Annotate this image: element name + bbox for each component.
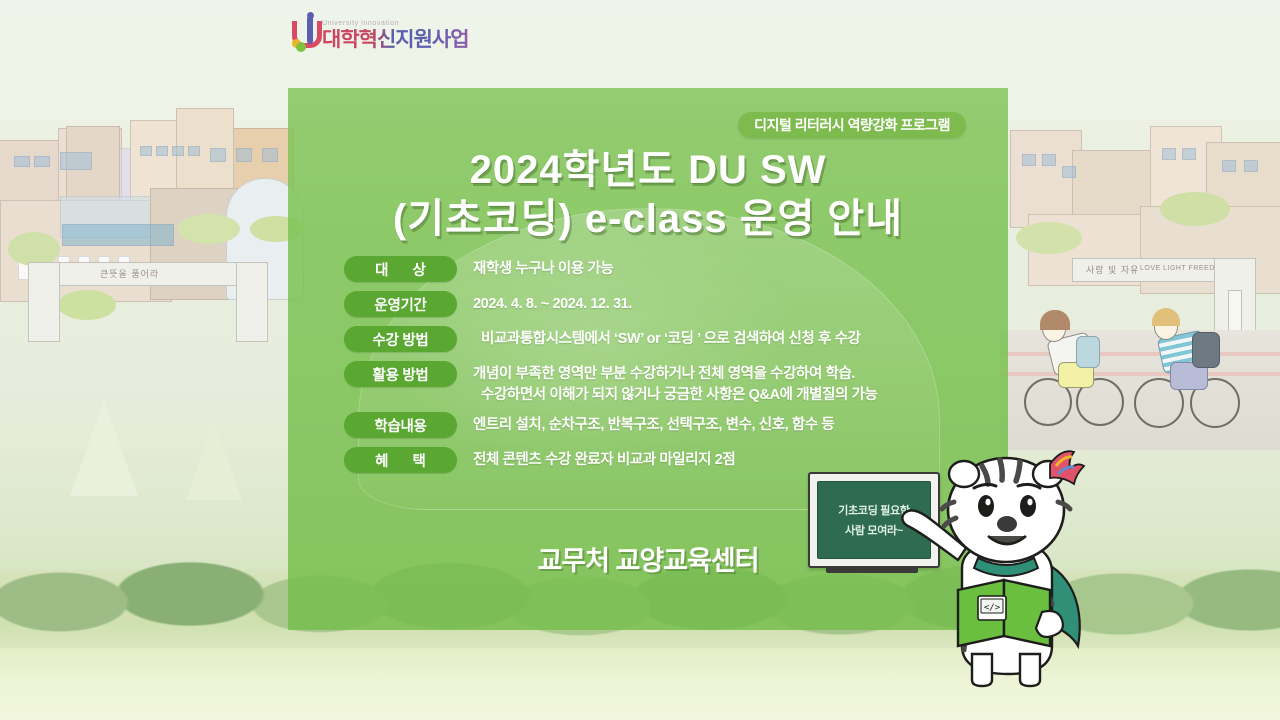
program-badge: 디지털 리터러시 역량강화 프로그램: [738, 112, 966, 138]
logo-green-dot: [296, 42, 306, 52]
cyclist-female: [1020, 300, 1130, 430]
svg-text:</>: </>: [984, 603, 1001, 613]
university-innovation-logo: University innovation 대학혁신지원사업: [292, 16, 469, 50]
row-value-contents: 엔트리 설치, 순차구조, 반복구조, 선택구조, 변수, 신호, 함수 등: [473, 412, 834, 436]
title-line-2: (기초코딩) e-class 운영 안내: [288, 195, 1008, 244]
window: [60, 152, 92, 170]
table-row: 학습내용 엔트리 설치, 순차구조, 반복구조, 선택구조, 변수, 신호, 함…: [344, 412, 978, 438]
logo-text: University innovation 대학혁신지원사업: [322, 20, 469, 50]
window: [1182, 148, 1196, 160]
info-table: 대 상 재학생 누구나 이용 가능 운영기간 2024. 4. 8. ~ 202…: [344, 256, 978, 482]
window: [1222, 160, 1236, 172]
row-label-target: 대 상: [344, 256, 457, 282]
tree: [1160, 192, 1230, 226]
tiger-mascot-illustration: </>: [900, 440, 1115, 690]
page-title: 2024학년도 DU SW (기초코딩) e-class 운영 안내: [288, 146, 1008, 244]
table-row: 운영기간 2024. 4. 8. ~ 2024. 12. 31.: [344, 291, 978, 317]
tree: [58, 290, 116, 320]
conifer-tree: [186, 420, 242, 500]
cyclist-hair: [1152, 308, 1180, 326]
gate-left-pillar: [28, 262, 60, 342]
logo-j-dot: [307, 12, 314, 19]
gate-left-pillar: [236, 262, 268, 342]
tiger-mascot: </>: [900, 440, 1115, 690]
cyclist-backpack: [1192, 332, 1220, 368]
poster-canvas: 큰뜻을 품어라 사랑 빛 자유 LOVE LIGHT FREEDOM: [0, 0, 1280, 720]
cyclist-male: [1130, 300, 1250, 430]
row-value-period: 2024. 4. 8. ~ 2024. 12. 31.: [473, 291, 632, 315]
window: [210, 148, 226, 162]
conifer-tree: [70, 400, 138, 496]
window: [236, 148, 252, 162]
row-value-how-to-use: 개념이 부족한 영역만 부분 수강하거나 전체 영역을 수강하여 학습. 수강하…: [473, 361, 878, 406]
window: [172, 146, 184, 156]
title-line-1: 2024학년도 DU SW: [288, 146, 1008, 195]
window: [1062, 166, 1076, 178]
table-row: 대 상 재학생 누구나 이용 가능: [344, 256, 978, 282]
window: [62, 224, 174, 246]
row-value-benefit: 전체 콘텐츠 수강 완료자 비교과 마일리지 2점: [473, 447, 735, 471]
row-value-how-to-use-line1: 개념이 부족한 영역만 부분 수강하거나 전체 영역을 수강하여 학습.: [473, 366, 855, 382]
window: [1244, 160, 1258, 172]
window: [1042, 154, 1056, 166]
row-value-how-to-use-line2: 수강하면서 이해가 되지 않거나 궁금한 사항은 Q&A에 개별질의 가능: [473, 385, 878, 406]
row-label-period: 운영기간: [344, 291, 457, 317]
table-row: 혜 택 전체 콘텐츠 수강 완료자 비교과 마일리지 2점: [344, 447, 978, 473]
window: [156, 146, 168, 156]
window: [1022, 154, 1036, 166]
cyclist-backpack: [1076, 336, 1100, 368]
tree: [178, 214, 240, 244]
tree: [1016, 222, 1082, 254]
window: [14, 156, 30, 167]
window: [140, 146, 152, 156]
logo-mark-icon: [292, 16, 318, 50]
table-row: 활용 방법 개념이 부족한 영역만 부분 수강하거나 전체 영역을 수강하여 학…: [344, 361, 978, 406]
row-label-contents: 학습내용: [344, 412, 457, 438]
window: [188, 146, 200, 156]
logo-text-english: University innovation: [322, 20, 469, 27]
window: [1162, 148, 1176, 160]
blackboard-line-2: 사람 모여라~: [845, 522, 903, 538]
logo-j-shape: [307, 16, 313, 44]
row-label-how-to-enroll: 수강 방법: [344, 326, 457, 352]
window: [262, 148, 278, 162]
window: [34, 156, 50, 167]
row-label-how-to-use: 활용 방법: [344, 361, 457, 387]
table-row: 수강 방법 비교과통합시스템에서 ‘SW’ or ‘코딩 ’ 으로 검색하여 신…: [344, 326, 978, 352]
tree: [8, 232, 60, 266]
row-label-benefit: 혜 택: [344, 447, 457, 473]
gate-right-text: 사랑 빛 자유: [1086, 263, 1139, 276]
gate-left-text: 큰뜻을 품어라: [100, 267, 159, 280]
logo-text-korean: 대학혁신지원사업: [322, 29, 469, 50]
row-value-how-to-enroll: 비교과통합시스템에서 ‘SW’ or ‘코딩 ’ 으로 검색하여 신청 후 수강: [473, 326, 860, 350]
row-value-target: 재학생 누구나 이용 가능: [473, 256, 613, 280]
cyclist-hair: [1040, 310, 1070, 330]
